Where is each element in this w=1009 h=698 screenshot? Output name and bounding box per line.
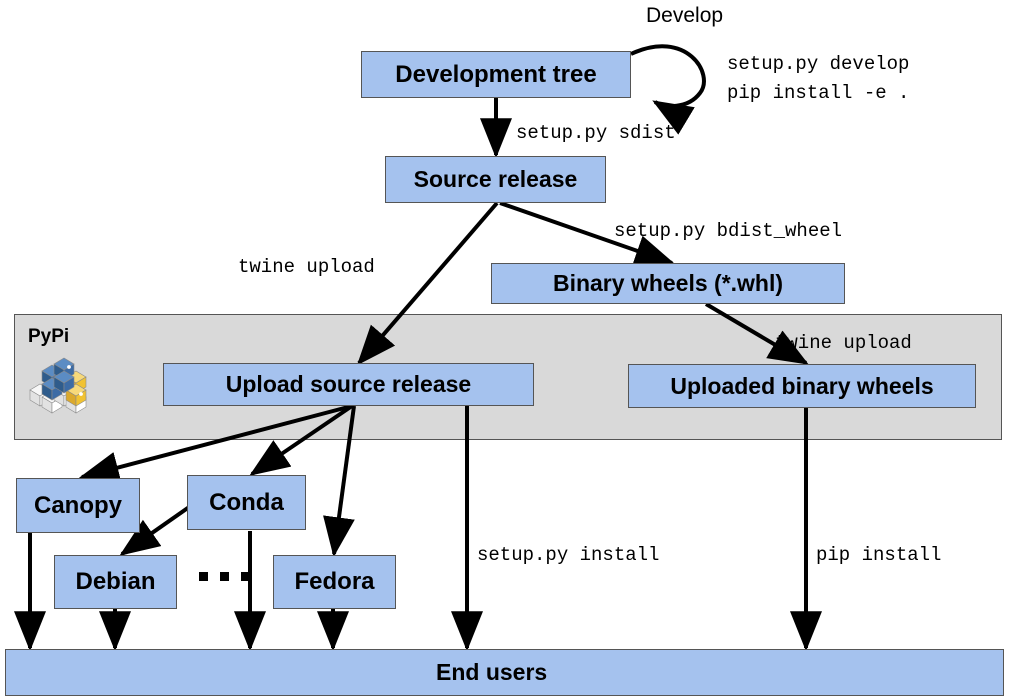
- ellipsis-dot-2: [220, 572, 229, 581]
- label-setup-py-sdist: setup.py sdist: [516, 121, 676, 147]
- node-conda[interactable]: Conda: [187, 475, 306, 530]
- node-upload-source-release[interactable]: Upload source release: [163, 363, 534, 406]
- label-twine-upload-source: twine upload: [238, 255, 375, 281]
- label-develop-command-2: pip install -e .: [727, 81, 909, 107]
- node-end-users[interactable]: End users: [5, 649, 1004, 696]
- python-cubes-icon: [24, 354, 94, 414]
- arrow-source-to-uploadsource: [359, 203, 497, 363]
- logo-eye-bottom: [79, 392, 83, 396]
- arrow-develop-selfloop: [631, 46, 704, 106]
- label-setup-py-bdist-wheel: setup.py bdist_wheel: [614, 219, 842, 245]
- ellipsis-dot-3: [241, 572, 250, 581]
- node-fedora[interactable]: Fedora: [273, 555, 396, 609]
- pypi-group-title: PyPi: [28, 326, 69, 348]
- node-development-tree[interactable]: Development tree: [361, 51, 631, 98]
- arrow-uploadsource-to-conda: [252, 406, 352, 474]
- arrow-uploadsource-to-canopy: [82, 406, 352, 477]
- label-develop: Develop: [646, 4, 723, 28]
- packaging-flow-diagram: Development tree Source release Binary w…: [0, 0, 1009, 698]
- label-develop-command-1: setup.py develop: [727, 52, 909, 78]
- python-cubes-icon-svg: [24, 354, 94, 414]
- arrow-uploadsource-to-fedora: [334, 406, 354, 554]
- node-source-release[interactable]: Source release: [385, 156, 606, 203]
- node-debian[interactable]: Debian: [54, 555, 177, 609]
- ellipsis-dot-1: [199, 572, 208, 581]
- node-binary-wheels[interactable]: Binary wheels (*.whl): [491, 263, 845, 304]
- node-canopy[interactable]: Canopy: [16, 478, 140, 533]
- logo-eye-top: [67, 365, 71, 369]
- ellipsis-more-distros: [199, 572, 250, 581]
- label-twine-upload-wheels: twine upload: [775, 331, 912, 357]
- label-pip-install: pip install: [816, 543, 941, 569]
- node-uploaded-binary-wheels[interactable]: Uploaded binary wheels: [628, 364, 976, 408]
- label-setup-py-install: setup.py install: [477, 543, 659, 569]
